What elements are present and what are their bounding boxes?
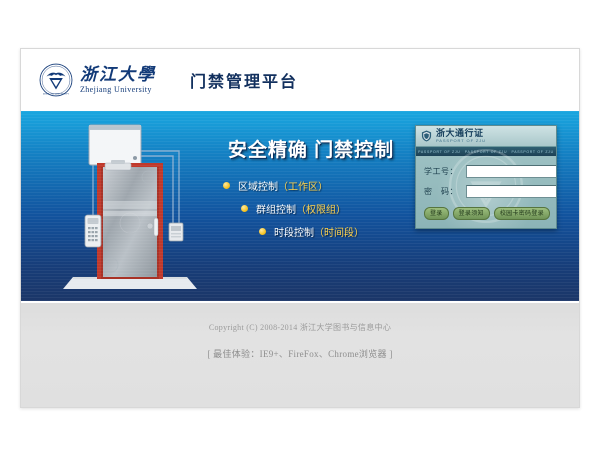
feature-item-time-control: 时段控制 （时间段） xyxy=(201,224,421,239)
svg-text:ZHEJIANG UNIVERSITY: ZHEJIANG UNIVERSITY xyxy=(43,92,70,95)
login-notice-button[interactable]: 登录须知 xyxy=(453,207,490,220)
gold-dot-icon xyxy=(259,228,266,235)
stripe-text: PASSPORT OF ZJU xyxy=(418,150,460,154)
site-header: ZHEJIANG UNIVERSITY 浙江大學 Zhejiang Univer… xyxy=(21,49,579,111)
hero-banner: 安全精确 门禁控制 区域控制 （工作区） 群组控制 （权限组） 时段控制 （时间… xyxy=(21,111,579,301)
password-input[interactable] xyxy=(466,185,557,198)
feature-item-area-control: 区域控制 （工作区） xyxy=(201,178,421,193)
banner-feature-list: 区域控制 （工作区） 群组控制 （权限组） 时段控制 （时间段） xyxy=(201,178,421,239)
university-logo[interactable]: ZHEJIANG UNIVERSITY 浙江大學 Zhejiang Univer… xyxy=(39,63,156,97)
login-panel-header: 浙大通行证 PASSPORT OF ZJU xyxy=(416,126,556,147)
password-label: 密 码： xyxy=(424,186,466,197)
banner-headline: 安全精确 门禁控制 xyxy=(201,135,421,162)
username-row: 学工号： xyxy=(424,165,548,178)
logo-chinese-name: 浙江大學 xyxy=(80,66,156,83)
login-button-row: 登录 登录须知 校园卡密码登录 xyxy=(424,207,548,220)
login-panel-title: 浙大通行证 xyxy=(436,129,486,138)
logo-english-name: Zhejiang University xyxy=(80,86,156,94)
username-label: 学工号： xyxy=(424,166,466,177)
browser-support-text: [ 最佳体验：IE9+、FireFox、Chrome浏览器 ] xyxy=(21,333,579,360)
card-reader-icon xyxy=(169,223,183,241)
shield-icon xyxy=(421,130,432,142)
feature-label: 时段控制 xyxy=(274,224,314,239)
feature-label: 群组控制 xyxy=(256,201,296,216)
campus-card-login-button[interactable]: 校园卡密码登录 xyxy=(494,207,550,220)
feature-label: 区域控制 xyxy=(238,178,278,193)
username-input[interactable] xyxy=(466,165,557,178)
stripe-text: PASSPORT OF ZJU xyxy=(465,150,507,154)
banner-text-block: 安全精确 门禁控制 区域控制 （工作区） 群组控制 （权限组） 时段控制 （时间… xyxy=(201,135,421,247)
page-title: 门禁管理平台 xyxy=(190,68,298,92)
controller-box-icon xyxy=(89,125,141,165)
zju-emblem-icon: ZHEJIANG UNIVERSITY xyxy=(39,63,73,97)
password-row: 密 码： xyxy=(424,185,548,198)
gold-dot-icon xyxy=(223,182,230,189)
page-card: ZHEJIANG UNIVERSITY 浙江大學 Zhejiang Univer… xyxy=(20,48,580,408)
feature-item-group-control: 群组控制 （权限组） xyxy=(201,201,421,216)
copyright-text: Copyright (C) 2008-2014 浙江大学图书与信息中心 xyxy=(21,303,579,333)
feature-note: （工作区） xyxy=(278,178,328,193)
access-control-door-illustration xyxy=(55,119,205,299)
login-button[interactable]: 登录 xyxy=(424,207,449,220)
site-footer: Copyright (C) 2008-2014 浙江大学图书与信息中心 [ 最佳… xyxy=(21,301,579,408)
login-panel: 浙大通行证 PASSPORT OF ZJU PASSPORT OF ZJU PA… xyxy=(415,125,557,229)
feature-note: （权限组） xyxy=(296,201,346,216)
login-panel-stripe: PASSPORT OF ZJU PASSPORT OF ZJU PASSPORT… xyxy=(416,147,556,156)
feature-note: （时间段） xyxy=(314,224,364,239)
stripe-text: PASSPORT OF ZJU xyxy=(511,150,553,154)
login-form: 学工号： 密 码： 登录 登录须知 校园卡密码登录 xyxy=(416,156,556,228)
gold-dot-icon xyxy=(241,205,248,212)
login-panel-subtitle: PASSPORT OF ZJU xyxy=(436,139,486,143)
keypad-reader-icon xyxy=(85,215,101,247)
